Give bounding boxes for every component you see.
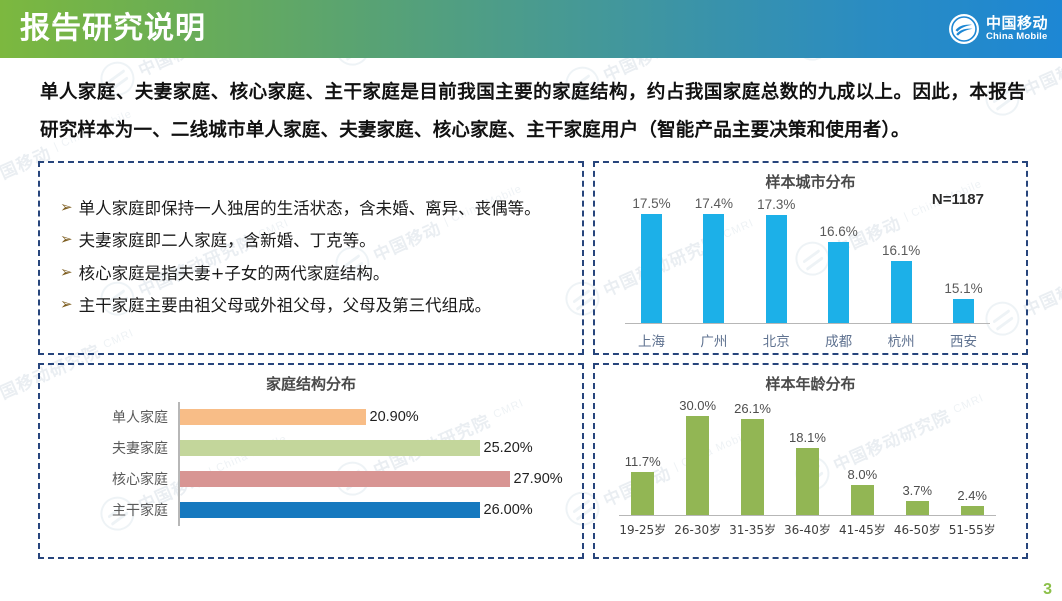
age-bar xyxy=(686,416,709,515)
definition-item: ➢单人家庭即保持一人独居的生活状态，含未婚、离异、丧偶等。 xyxy=(60,193,574,225)
city-bar-value: 16.1% xyxy=(882,243,920,258)
age-axis-label: 51-55岁 xyxy=(948,521,996,538)
age-bar-group: 26.1% xyxy=(729,398,777,515)
family-bar-value: 26.00% xyxy=(484,502,533,518)
age-axis-label: 36-40岁 xyxy=(784,521,832,538)
family-bar-label: 主干家庭 xyxy=(56,500,178,520)
age-bar-group: 3.7% xyxy=(894,398,942,515)
family-bar-value: 27.90% xyxy=(514,471,563,487)
definitions-panel: ➢单人家庭即保持一人独居的生活状态，含未婚、离异、丧偶等。➢夫妻家庭即二人家庭，… xyxy=(38,161,584,355)
china-mobile-emblem-icon xyxy=(949,14,979,44)
city-bar-group: 17.5% xyxy=(625,196,678,323)
page-title: 报告研究说明 xyxy=(20,14,206,44)
bullet-arrow-icon: ➢ xyxy=(60,225,73,254)
family-bar-row: 核心家庭27.90% xyxy=(56,464,574,495)
age-bar-group: 18.1% xyxy=(784,398,832,515)
city-axis-label: 西安 xyxy=(937,330,990,350)
age-bar-value: 11.7% xyxy=(625,454,661,469)
city-chart-x-axis: 上海广州北京成都杭州西安 xyxy=(625,330,990,350)
family-bar-row: 主干家庭26.00% xyxy=(56,495,574,526)
family-structure-panel: 家庭结构分布 单人家庭20.90%夫妻家庭25.20%核心家庭27.90%主干家… xyxy=(38,363,584,559)
city-bar xyxy=(828,242,849,323)
age-chart-x-axis: 19-25岁26-30岁31-35岁36-40岁41-45岁46-50岁51-5… xyxy=(619,521,996,538)
family-bar xyxy=(180,471,510,487)
family-bar-row: 单人家庭20.90% xyxy=(56,402,574,433)
age-bar xyxy=(741,419,764,514)
city-axis-label: 杭州 xyxy=(875,330,928,350)
city-bar xyxy=(703,214,724,323)
bullet-arrow-icon: ➢ xyxy=(60,258,73,287)
brand-name-cn: 中国移动 xyxy=(986,16,1048,32)
definition-item: ➢主干家庭主要由祖父母或外祖父母，父母及第三代组成。 xyxy=(60,290,574,322)
city-chart-title: 样本城市分布 xyxy=(603,171,1018,192)
family-bar-row: 夫妻家庭25.20% xyxy=(56,433,574,464)
age-bar-value: 8.0% xyxy=(848,467,878,482)
intro-paragraph: 单人家庭、夫妻家庭、核心家庭、主干家庭是目前我国主要的家庭结构，约占我国家庭总数… xyxy=(40,74,1026,151)
city-bar-group: 17.3% xyxy=(750,196,803,323)
slide-header: 报告研究说明 中国移动 China Mobile xyxy=(0,0,1062,58)
definition-item: ➢核心家庭是指夫妻+子女的两代家庭结构。 xyxy=(60,258,574,290)
family-bar xyxy=(180,440,480,456)
family-bar xyxy=(180,409,366,425)
age-bar-value: 2.4% xyxy=(957,488,987,503)
age-axis-label: 46-50岁 xyxy=(894,521,942,538)
age-bar-value: 26.1% xyxy=(734,401,771,416)
age-bar-group: 30.0% xyxy=(674,398,722,515)
age-chart-title: 样本年龄分布 xyxy=(603,373,1018,394)
family-bar-label: 夫妻家庭 xyxy=(56,438,178,458)
city-chart-columns: 17.5%17.4%17.3%16.6%16.1%15.1% xyxy=(625,196,990,324)
city-bar-value: 15.1% xyxy=(944,281,982,296)
brand-name-en: China Mobile xyxy=(986,32,1048,42)
age-bar-group: 2.4% xyxy=(948,398,996,515)
definitions-list: ➢单人家庭即保持一人独居的生活状态，含未婚、离异、丧偶等。➢夫妻家庭即二人家庭，… xyxy=(48,169,574,347)
definition-item: ➢夫妻家庭即二人家庭，含新婚、丁克等。 xyxy=(60,225,574,257)
page-number: 3 xyxy=(1043,581,1052,599)
city-bar-group: 15.1% xyxy=(937,196,990,323)
family-bar-label: 单人家庭 xyxy=(56,407,178,427)
age-bar-value: 30.0% xyxy=(679,398,716,413)
china-mobile-logo: 中国移动 China Mobile xyxy=(949,14,1048,44)
city-distribution-panel: 样本城市分布 N=1187 17.5%17.4%17.3%16.6%16.1%1… xyxy=(593,161,1028,355)
content-grid: ➢单人家庭即保持一人独居的生活状态，含未婚、离异、丧偶等。➢夫妻家庭即二人家庭，… xyxy=(38,161,1028,559)
definition-item-text: 主干家庭主要由祖父母或外祖父母，父母及第三代组成。 xyxy=(79,290,492,322)
city-bar xyxy=(953,299,974,322)
bullet-arrow-icon: ➢ xyxy=(60,193,73,222)
family-bar xyxy=(180,502,480,518)
age-distribution-panel: 样本年龄分布 11.7%30.0%26.1%18.1%8.0%3.7%2.4% … xyxy=(593,363,1028,559)
age-axis-label: 19-25岁 xyxy=(619,521,667,538)
city-axis-label: 成都 xyxy=(812,330,865,350)
city-bar-group: 16.6% xyxy=(812,196,865,323)
age-bar-group: 8.0% xyxy=(839,398,887,515)
age-bar-group: 11.7% xyxy=(619,398,667,515)
age-bar xyxy=(851,485,874,514)
city-bar-value: 17.3% xyxy=(757,197,795,212)
city-bar xyxy=(641,214,662,323)
age-bar xyxy=(631,472,654,515)
family-chart-bars: 单人家庭20.90%夫妻家庭25.20%核心家庭27.90%主干家庭26.00% xyxy=(48,402,574,526)
city-axis-label: 广州 xyxy=(687,330,740,350)
age-axis-label: 31-35岁 xyxy=(729,521,777,538)
age-bar xyxy=(796,448,819,514)
age-axis-label: 41-45岁 xyxy=(839,521,887,538)
definition-item-text: 夫妻家庭即二人家庭，含新婚、丁克等。 xyxy=(79,225,376,257)
family-chart-title: 家庭结构分布 xyxy=(48,373,574,394)
age-bar xyxy=(906,501,929,515)
bullet-arrow-icon: ➢ xyxy=(60,290,73,319)
city-bar-value: 17.5% xyxy=(632,196,670,211)
city-bar xyxy=(891,261,912,323)
age-axis-label: 26-30岁 xyxy=(674,521,722,538)
definition-item-text: 核心家庭是指夫妻+子女的两代家庭结构。 xyxy=(79,258,390,290)
definition-item-text: 单人家庭即保持一人独居的生活状态，含未婚、离异、丧偶等。 xyxy=(79,193,541,225)
family-bar-value: 20.90% xyxy=(370,409,419,425)
age-bar-value: 18.1% xyxy=(789,430,826,445)
city-axis-label: 上海 xyxy=(625,330,678,350)
age-bar-value: 3.7% xyxy=(902,483,932,498)
age-chart-columns: 11.7%30.0%26.1%18.1%8.0%3.7%2.4% xyxy=(619,398,996,516)
city-bar-value: 16.6% xyxy=(820,224,858,239)
city-bar xyxy=(766,215,787,323)
family-bar-label: 核心家庭 xyxy=(56,469,178,489)
city-bar-group: 16.1% xyxy=(875,196,928,323)
city-bar-value: 17.4% xyxy=(695,196,733,211)
city-axis-label: 北京 xyxy=(750,330,803,350)
age-bar xyxy=(961,506,984,515)
city-bar-group: 17.4% xyxy=(687,196,740,323)
family-bar-value: 25.20% xyxy=(484,440,533,456)
